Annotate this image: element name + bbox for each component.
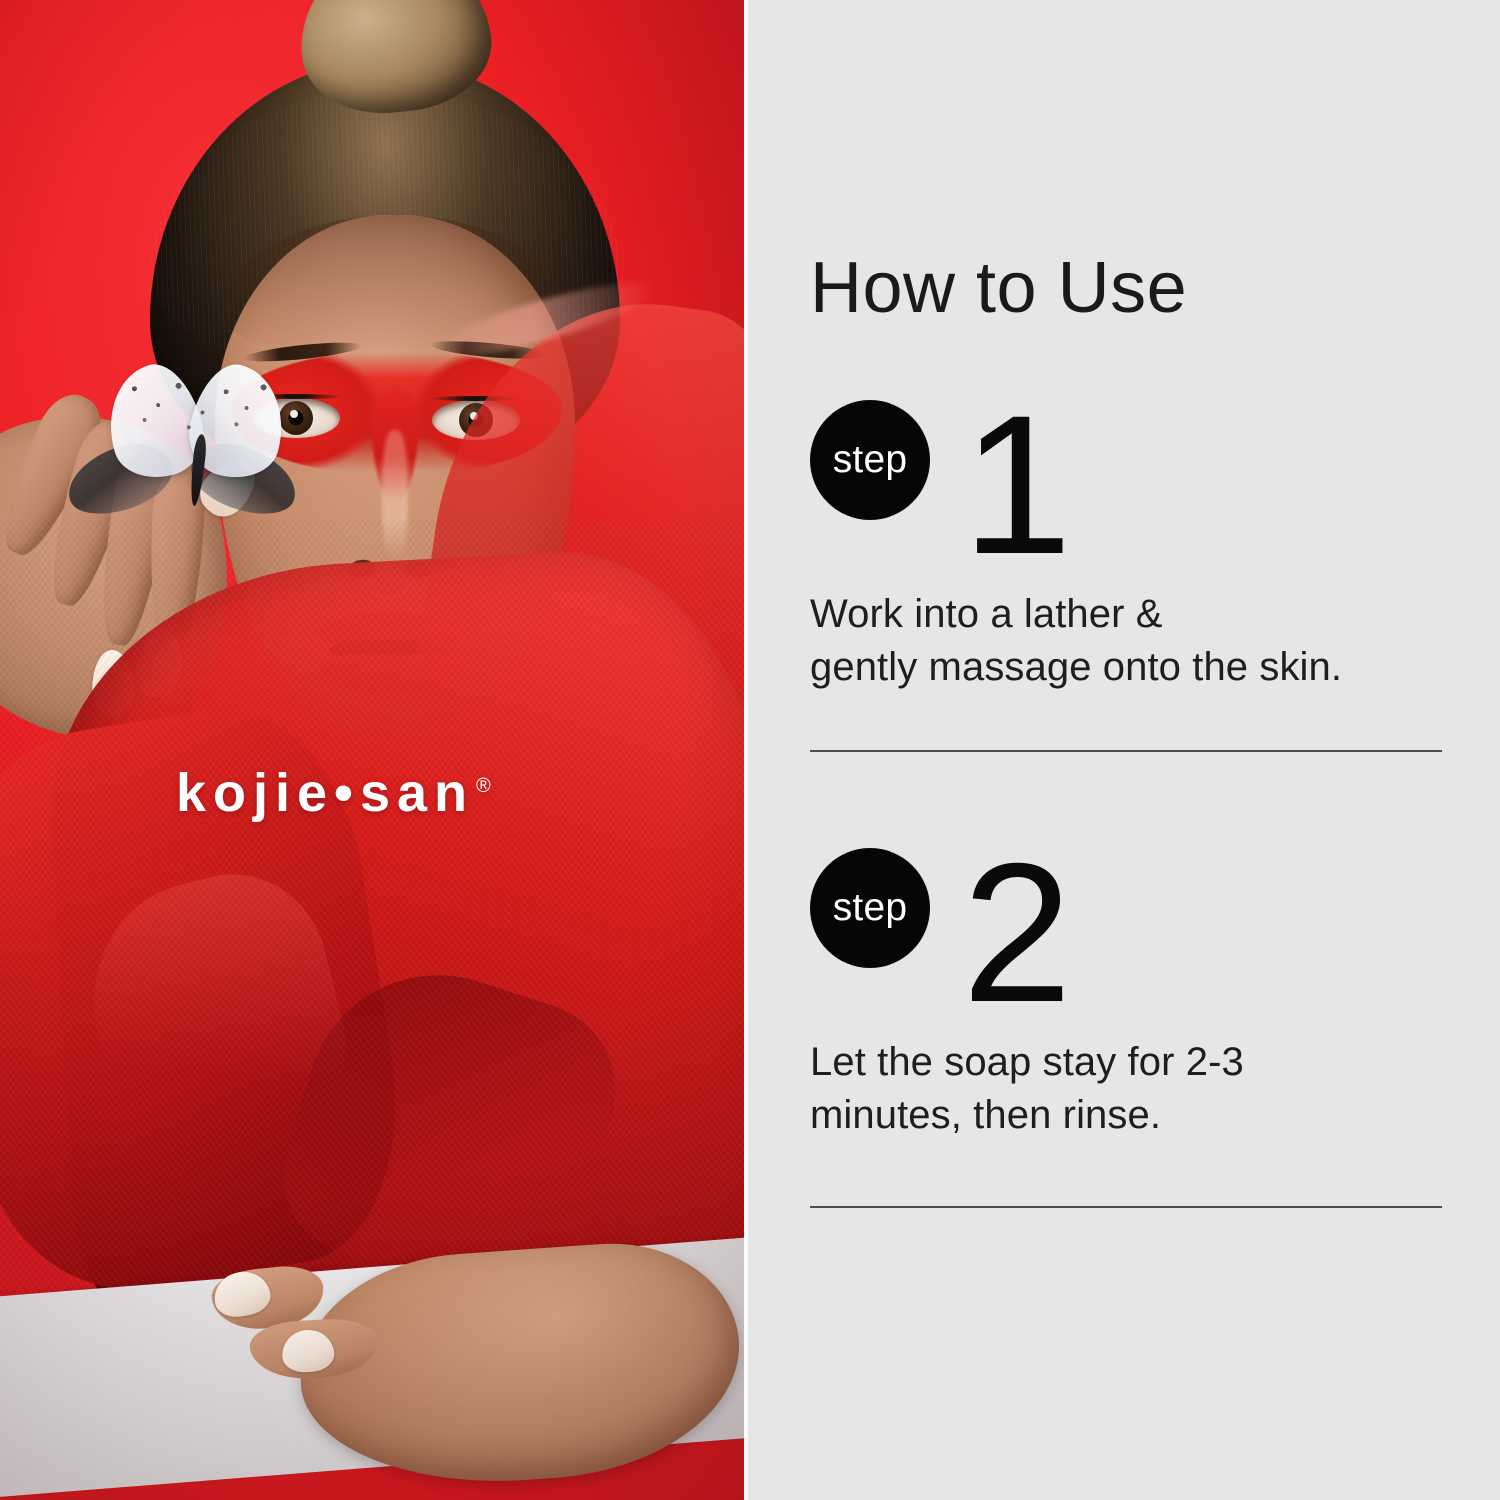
how-to-use-product-panel: kojie•san® How to Use step 1 Work into a… (0, 0, 1500, 1500)
step-2-line-1: Let the soap stay for 2-3 (810, 1036, 1440, 1089)
step-2-description: Let the soap stay for 2-3 minutes, then … (810, 1036, 1440, 1142)
step-2-badge: step (810, 848, 930, 968)
step-1-header: step 1 (810, 400, 1440, 582)
nose-highlight (382, 430, 408, 560)
step-1-badge-label: step (833, 440, 908, 479)
step-block-2: step 2 Let the soap stay for 2-3 minutes… (810, 848, 1440, 1142)
registered-trademark-mark: ® (476, 775, 491, 797)
step-1-description: Work into a lather & gently massage onto… (810, 588, 1440, 694)
step-2-line-2: minutes, then rinse. (810, 1089, 1440, 1142)
instructions-panel: How to Use step 1 Work into a lather & g… (748, 0, 1500, 1500)
divider-1 (810, 750, 1442, 752)
step-2-number: 2 (962, 834, 1070, 1032)
step-1-line-2: gently massage onto the skin. (810, 641, 1440, 694)
step-1-badge: step (810, 400, 930, 520)
brand-logo: kojie•san® (176, 766, 491, 820)
product-hero-photo: kojie•san® (0, 0, 748, 1500)
step-2-badge-label: step (833, 888, 908, 927)
divider-2 (810, 1206, 1442, 1208)
step-1-number: 1 (962, 386, 1070, 584)
step-block-1: step 1 Work into a lather & gently massa… (810, 400, 1440, 694)
step-2-header: step 2 (810, 848, 1440, 1030)
butterfly-icon (104, 352, 304, 532)
page-title: How to Use (810, 252, 1187, 324)
step-1-line-1: Work into a lather & (810, 588, 1440, 641)
brand-logo-text: kojie•san (176, 763, 474, 823)
